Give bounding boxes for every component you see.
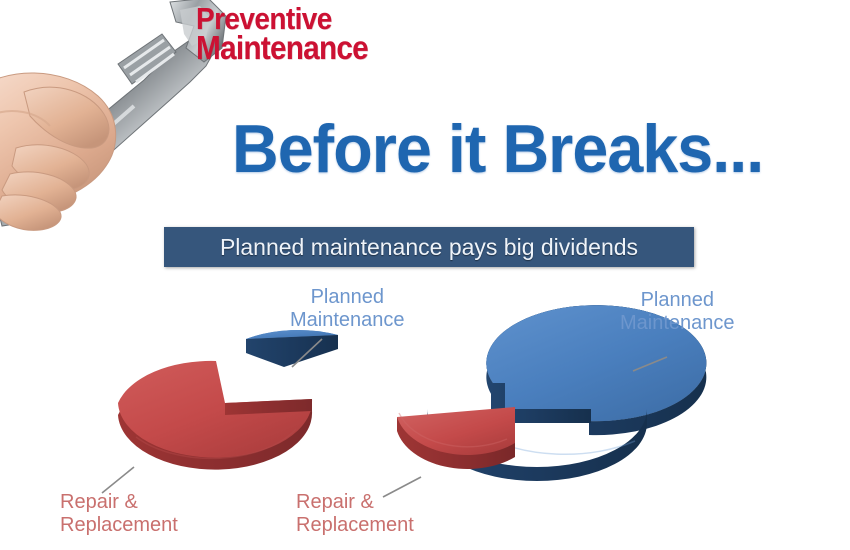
- leader-line-repair-replacement: [102, 467, 134, 493]
- label-line-2: Replacement: [60, 514, 178, 537]
- poster-canvas: Preventive Maintenance Before it Breaks.…: [0, 0, 850, 550]
- label-line-1: Repair &: [296, 491, 414, 514]
- pie-chart-without-planned-maintenance: [96, 325, 386, 500]
- hand-icon: [0, 73, 116, 230]
- logo-line-maintenance: Maintenance: [196, 33, 466, 62]
- subtitle-banner-text: Planned maintenance pays big dividends: [220, 234, 638, 260]
- label-line-2: Maintenance: [290, 309, 405, 332]
- label-line-1: Planned: [290, 286, 405, 309]
- label-line-1: Repair &: [60, 491, 178, 514]
- label-planned-maintenance-right: Planned Maintenance: [620, 289, 735, 335]
- label-planned-maintenance-left: Planned Maintenance: [290, 286, 405, 332]
- subtitle-banner: Planned maintenance pays big dividends: [164, 227, 694, 267]
- brand-logo: Preventive Maintenance: [196, 4, 496, 62]
- pie-slice-repair-replacement: [118, 361, 312, 470]
- label-line-1: Planned: [620, 289, 735, 312]
- page-title: Before it Breaks...: [232, 113, 763, 185]
- label-repair-replacement-mid: Repair & Replacement: [296, 491, 414, 537]
- label-line-2: Replacement: [296, 514, 414, 537]
- pie-chart-with-planned-maintenance: [385, 325, 715, 510]
- pie-slice-repair-replacement: [397, 407, 515, 469]
- label-repair-replacement-left: Repair & Replacement: [60, 491, 178, 537]
- pie-slice-planned-maintenance: [246, 330, 338, 367]
- label-line-2: Maintenance: [620, 312, 735, 335]
